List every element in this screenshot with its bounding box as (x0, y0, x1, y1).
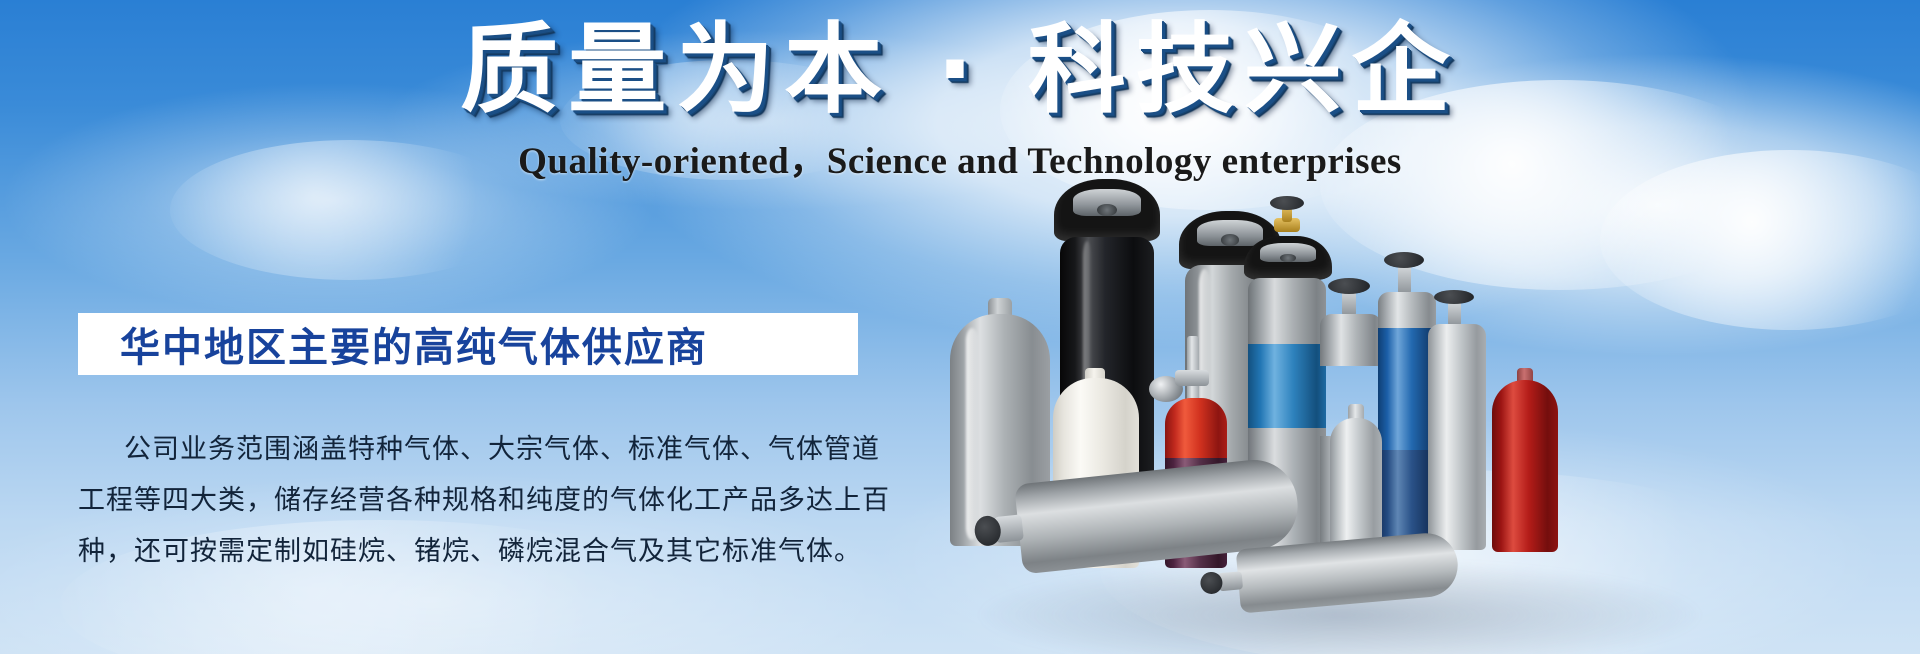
slogan-text: 华中地区主要的高纯气体供应商 (78, 315, 708, 373)
valve-handwheel (1270, 196, 1304, 210)
cylinder-body (1428, 324, 1486, 550)
paragraph-line: 种，还可按需定制如硅烷、锗烷、磷烷混合气及其它标准气体。 (78, 526, 868, 577)
valve-handwheel (1328, 278, 1370, 294)
paragraph-line: 工程等四大类，储存经营各种规格和纯度的气体化工产品多达上百 (78, 475, 868, 526)
valve-handwheel (1434, 290, 1474, 304)
cylinder-body (1492, 380, 1558, 552)
slogan-box: 华中地区主要的高纯气体供应商 (78, 313, 858, 375)
promotional-banner: 质量为本 · 科技兴企 Quality-oriented，Science and… (0, 0, 1920, 654)
cylinder-silver-aluminum (1428, 322, 1486, 550)
cylinder-body-top-steel (1248, 278, 1326, 346)
cylinder-valve-guard (1054, 179, 1160, 241)
valve-handwheel (1384, 252, 1424, 268)
description-paragraph: 公司业务范围涵盖特种气体、大宗气体、标准气体、气体管道 工程等四大类，储存经营各… (78, 424, 868, 577)
paragraph-line: 公司业务范围涵盖特种气体、大宗气体、标准气体、气体管道 (78, 424, 868, 475)
cylinder-dark-red (1492, 380, 1558, 552)
cylinder-body-top-silver (1320, 314, 1382, 366)
cylinder-highlight (966, 328, 978, 540)
cylinder-valve (1187, 336, 1199, 402)
regulator-body (1175, 370, 1209, 386)
cylinder-valve-guard (1244, 236, 1332, 280)
cylinder-body-top-red (1165, 398, 1227, 460)
cylinder-silver-small (1330, 418, 1382, 554)
cylinder-body (1330, 418, 1382, 554)
cylinder-valve (1398, 264, 1411, 294)
cylinder-body-blue (1248, 344, 1326, 430)
gas-cylinder-group (960, 0, 1920, 654)
